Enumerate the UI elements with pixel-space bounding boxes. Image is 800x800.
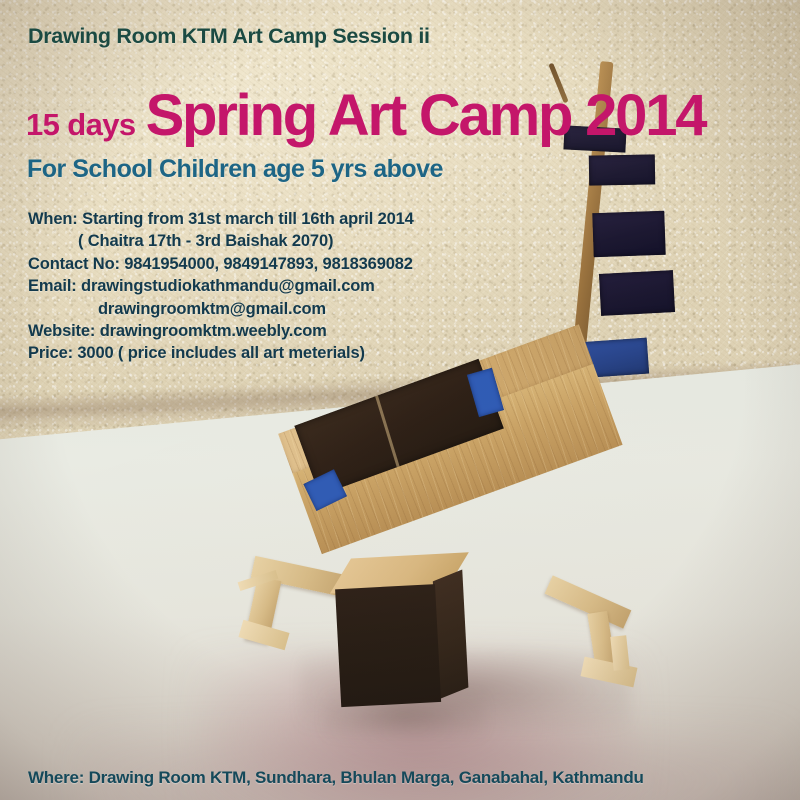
detail-line-nepali-date: ( Chaitra 17th - 3rd Baishak 2070) bbox=[28, 230, 414, 252]
text-overlay: Drawing Room KTM Art Camp Session ii 15 … bbox=[0, 0, 800, 800]
detail-line-contact: Contact No: 9841954000, 9849147893, 9818… bbox=[28, 253, 414, 275]
footer-address: Where: Drawing Room KTM, Sundhara, Bhula… bbox=[28, 768, 644, 788]
subtitle-line: For School Children age 5 yrs above bbox=[27, 155, 443, 184]
page-title: Spring Art Camp 2014 bbox=[146, 88, 706, 143]
detail-line-price: Price: 3000 ( price includes all art met… bbox=[28, 342, 414, 364]
kicker-line: Drawing Room KTM Art Camp Session ii bbox=[28, 24, 430, 49]
poster-canvas: Drawing Room KTM Art Camp Session ii 15 … bbox=[0, 0, 800, 800]
title-row: 15 days Spring Art Camp 2014 bbox=[26, 88, 705, 143]
detail-line-when: When: Starting from 31st march till 16th… bbox=[28, 208, 414, 230]
days-badge: 15 days bbox=[26, 107, 136, 143]
detail-line-email-1: Email: drawingstudiokathmandu@gmail.com bbox=[28, 275, 414, 297]
detail-line-email-2: drawingroomktm@gmail.com bbox=[28, 298, 414, 320]
details-block: When: Starting from 31st march till 16th… bbox=[28, 208, 414, 365]
detail-line-website: Website: drawingroomktm.weebly.com bbox=[28, 320, 414, 342]
